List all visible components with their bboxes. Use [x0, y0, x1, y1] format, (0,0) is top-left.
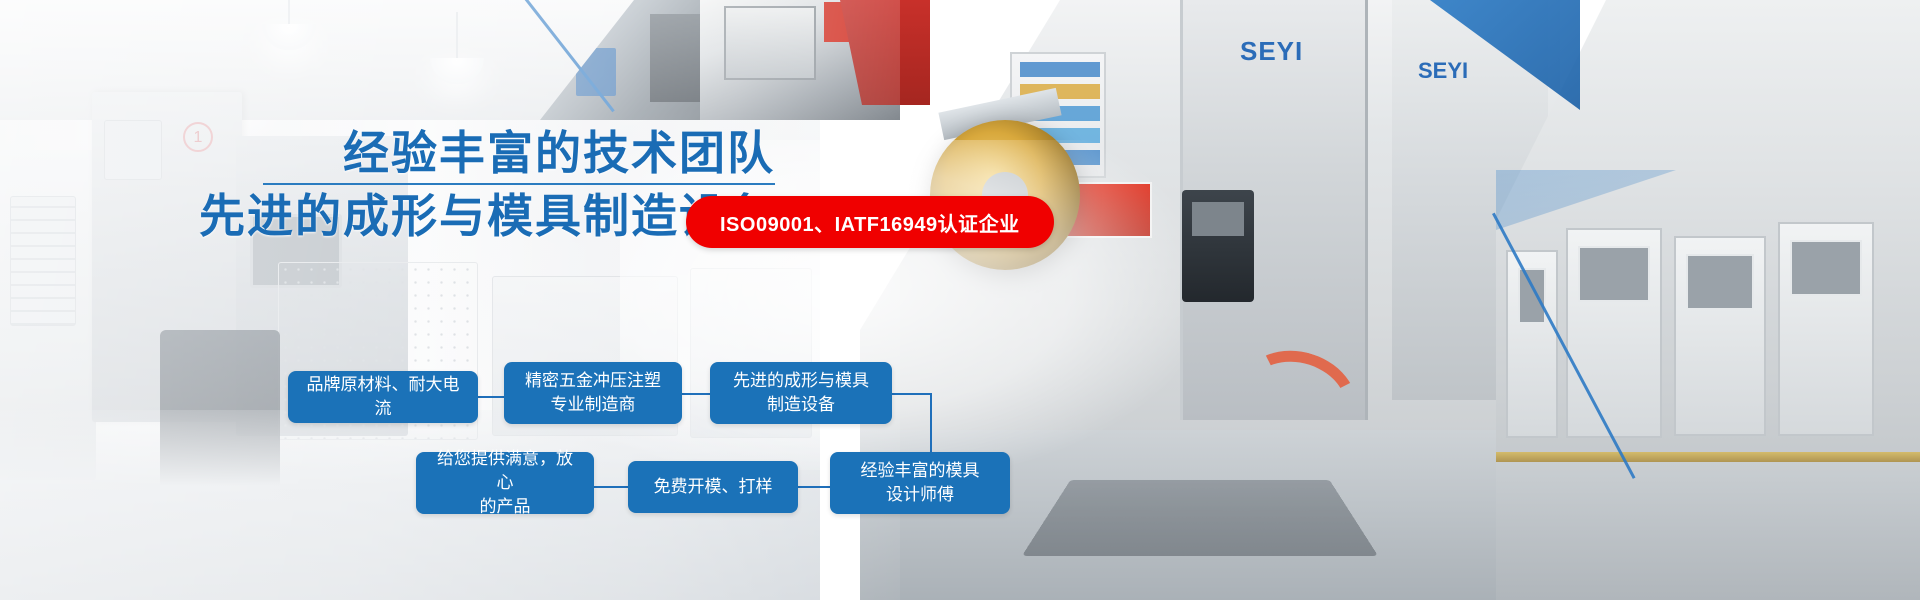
- connector-t4-t5: [594, 486, 628, 488]
- conveyor-rail: [1496, 452, 1920, 462]
- assembly-cell: [1566, 228, 1662, 438]
- press-control-panel: [1182, 190, 1254, 302]
- factory-capability-banner: 1 SEYI SEYI 经验丰富的技术团队 先进的成形与模具制造设备 ISO09…: [0, 0, 1920, 600]
- press-brand-label-right: SEYI: [1418, 58, 1468, 84]
- assembly-cell: [1778, 222, 1874, 436]
- connector-t1-t2: [478, 396, 504, 398]
- headline-line-2: 先进的成形与模具制造设备: [155, 189, 775, 243]
- tag-experienced-master[interactable]: 经验丰富的模具 设计师傅: [830, 452, 1010, 514]
- tag-satisfied-product[interactable]: 给您提供满意，放心 的产品: [416, 452, 594, 514]
- headline-divider: [263, 183, 775, 185]
- connector-t3-elbow: [892, 393, 932, 395]
- headline-line-1: 经验丰富的技术团队: [155, 126, 775, 180]
- headline-block: 经验丰富的技术团队 先进的成形与模具制造设备: [155, 126, 775, 243]
- press-brand-label-left: SEYI: [1240, 36, 1303, 67]
- connector-t2-t3: [682, 393, 710, 395]
- connector-t5-t6: [798, 486, 830, 488]
- certification-badge: ISO09001、IATF16949认证企业: [686, 196, 1054, 248]
- tag-free-mold-sample[interactable]: 免费开模、打样: [628, 461, 798, 513]
- assembly-floor: [1496, 462, 1920, 600]
- tag-brand-material[interactable]: 品牌原材料、耐大电流: [288, 371, 478, 423]
- floor-mat: [1022, 480, 1378, 556]
- certification-badge-text: ISO09001、IATF16949认证企业: [720, 208, 1020, 237]
- assembly-cell: [1674, 236, 1766, 436]
- assembly-cell: [1506, 250, 1558, 438]
- tag-precision-maker[interactable]: 精密五金冲压注塑 专业制造商: [504, 362, 682, 424]
- tag-advanced-equipment[interactable]: 先进的成形与模具 制造设备: [710, 362, 892, 424]
